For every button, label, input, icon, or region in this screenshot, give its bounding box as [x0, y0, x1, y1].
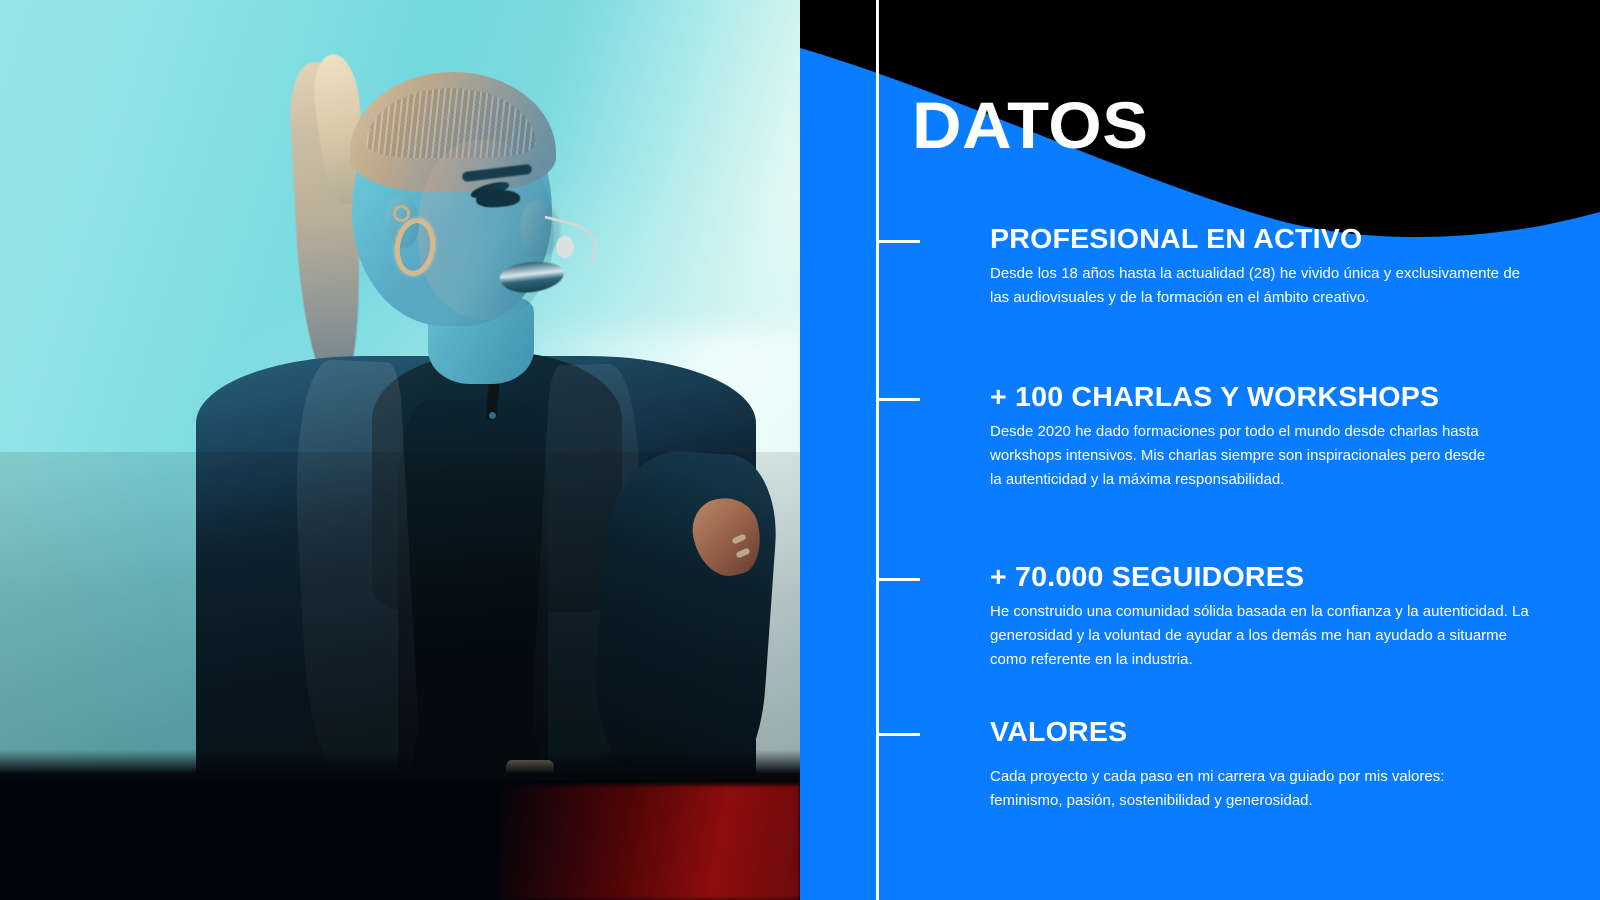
- panel-content: DATOS PROFESIONAL EN ACTIVO Desde los 18…: [800, 0, 1600, 900]
- red-carpet: [500, 785, 800, 900]
- earring-hoop-small-icon: [393, 205, 410, 222]
- section-heading: + 100 CHARLAS Y WORKSHOPS: [990, 381, 1439, 413]
- info-panel: DATOS PROFESIONAL EN ACTIVO Desde los 18…: [800, 0, 1600, 900]
- section-body: Desde los 18 años hasta la actualidad (2…: [990, 262, 1520, 310]
- headset-microphone-capsule: [556, 236, 574, 258]
- section-heading: PROFESIONAL EN ACTIVO: [990, 223, 1362, 255]
- section-tick-marker: [876, 240, 920, 243]
- speaker-photo: [0, 0, 800, 900]
- blazer-sleeve-right: [589, 446, 782, 787]
- section-tick-marker: [876, 578, 920, 581]
- section-tick-marker: [876, 398, 920, 401]
- slide: DATOS PROFESIONAL EN ACTIVO Desde los 18…: [0, 0, 1600, 900]
- section-body: He construido una comunidad sólida basad…: [990, 600, 1530, 672]
- section-body: Cada proyecto y cada paso en mi carrera …: [990, 765, 1490, 813]
- page-title: DATOS: [912, 92, 1149, 158]
- section-heading: + 70.000 SEGUIDORES: [990, 561, 1304, 593]
- section-tick-marker: [876, 733, 920, 736]
- section-body: Desde 2020 he dado formaciones por todo …: [990, 420, 1490, 492]
- lapel-microphone-led: [489, 412, 496, 419]
- section-heading: VALORES: [990, 716, 1127, 748]
